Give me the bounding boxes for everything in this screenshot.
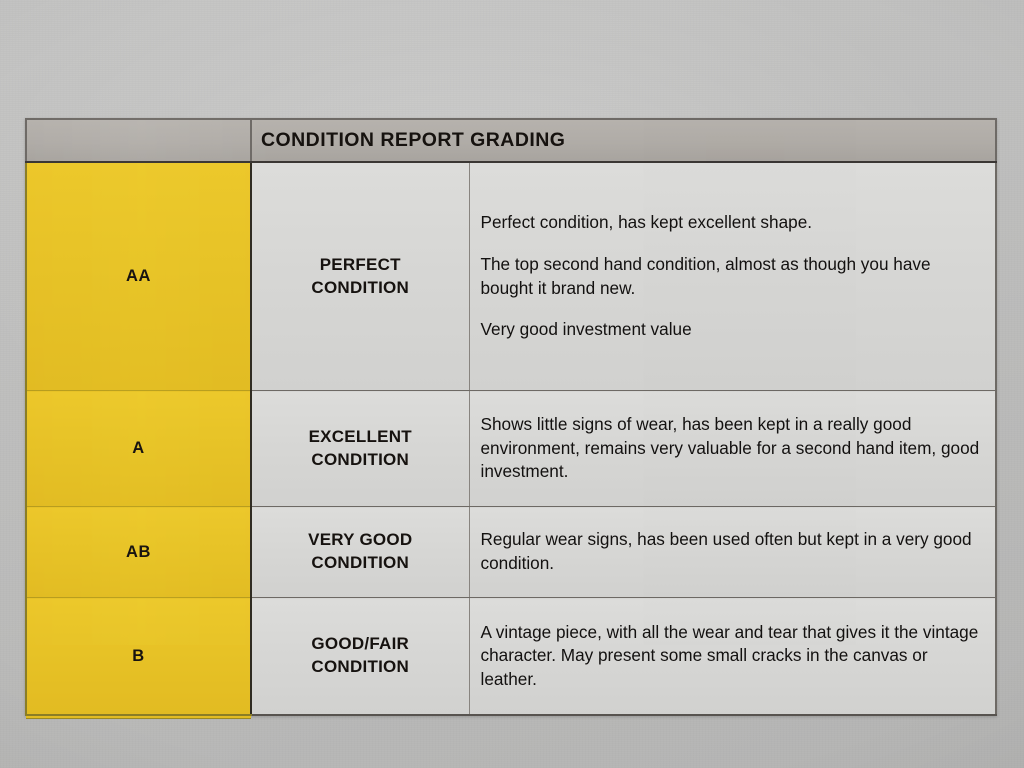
condition-line: VERY GOOD (253, 529, 468, 552)
description-paragraph: Regular wear signs, has been used often … (481, 528, 982, 575)
header-cell-title: CONDITION REPORT GRADING (251, 119, 996, 162)
condition-line: GOOD/FAIR (253, 633, 468, 656)
description-cell-aa: Perfect condition, has kept excellent sh… (469, 162, 996, 391)
table-body: AA PERFECT CONDITION Perfect condition, … (26, 162, 996, 715)
description-paragraph: A vintage piece, with all the wear and t… (481, 621, 982, 692)
description-cell-b: A vintage piece, with all the wear and t… (469, 598, 996, 716)
condition-cell-b: GOOD/FAIR CONDITION (251, 598, 469, 716)
condition-line: PERFECT (253, 254, 468, 277)
header-cell-blank (26, 119, 251, 162)
table-head: CONDITION REPORT GRADING (26, 119, 996, 162)
condition-line: EXCELLENT (253, 426, 468, 449)
grade-cell-aa: AA (26, 162, 251, 391)
description-paragraph: Very good investment value (481, 318, 982, 342)
condition-cell-aa: PERFECT CONDITION (251, 162, 469, 391)
description-cell-a: Shows little signs of wear, has been kep… (469, 391, 996, 507)
page-title: CONDITION REPORT GRADING (252, 120, 995, 161)
condition-cell-a: EXCELLENT CONDITION (251, 391, 469, 507)
condition-line: CONDITION (253, 449, 468, 472)
description-paragraph: The top second hand condition, almost as… (481, 253, 982, 300)
table-row: B GOOD/FAIR CONDITION A vintage piece, w… (26, 598, 996, 716)
table-row: AB VERY GOOD CONDITION Regular wear sign… (26, 507, 996, 598)
condition-line: CONDITION (253, 277, 468, 300)
grade-cell-b: B (26, 598, 251, 716)
condition-cell-ab: VERY GOOD CONDITION (251, 507, 469, 598)
condition-line: CONDITION (253, 656, 468, 679)
condition-line: CONDITION (253, 552, 468, 575)
table-header-row: CONDITION REPORT GRADING (26, 119, 996, 162)
description-paragraph: Shows little signs of wear, has been kep… (481, 413, 982, 484)
table-row: A EXCELLENT CONDITION Shows little signs… (26, 391, 996, 507)
grade-cell-ab: AB (26, 507, 251, 598)
description-cell-ab: Regular wear signs, has been used often … (469, 507, 996, 598)
condition-grading-table: CONDITION REPORT GRADING AA PERFECT COND… (25, 118, 997, 716)
table-row: AA PERFECT CONDITION Perfect condition, … (26, 162, 996, 391)
description-paragraph: Perfect condition, has kept excellent sh… (481, 211, 982, 235)
grade-cell-a: A (26, 391, 251, 507)
